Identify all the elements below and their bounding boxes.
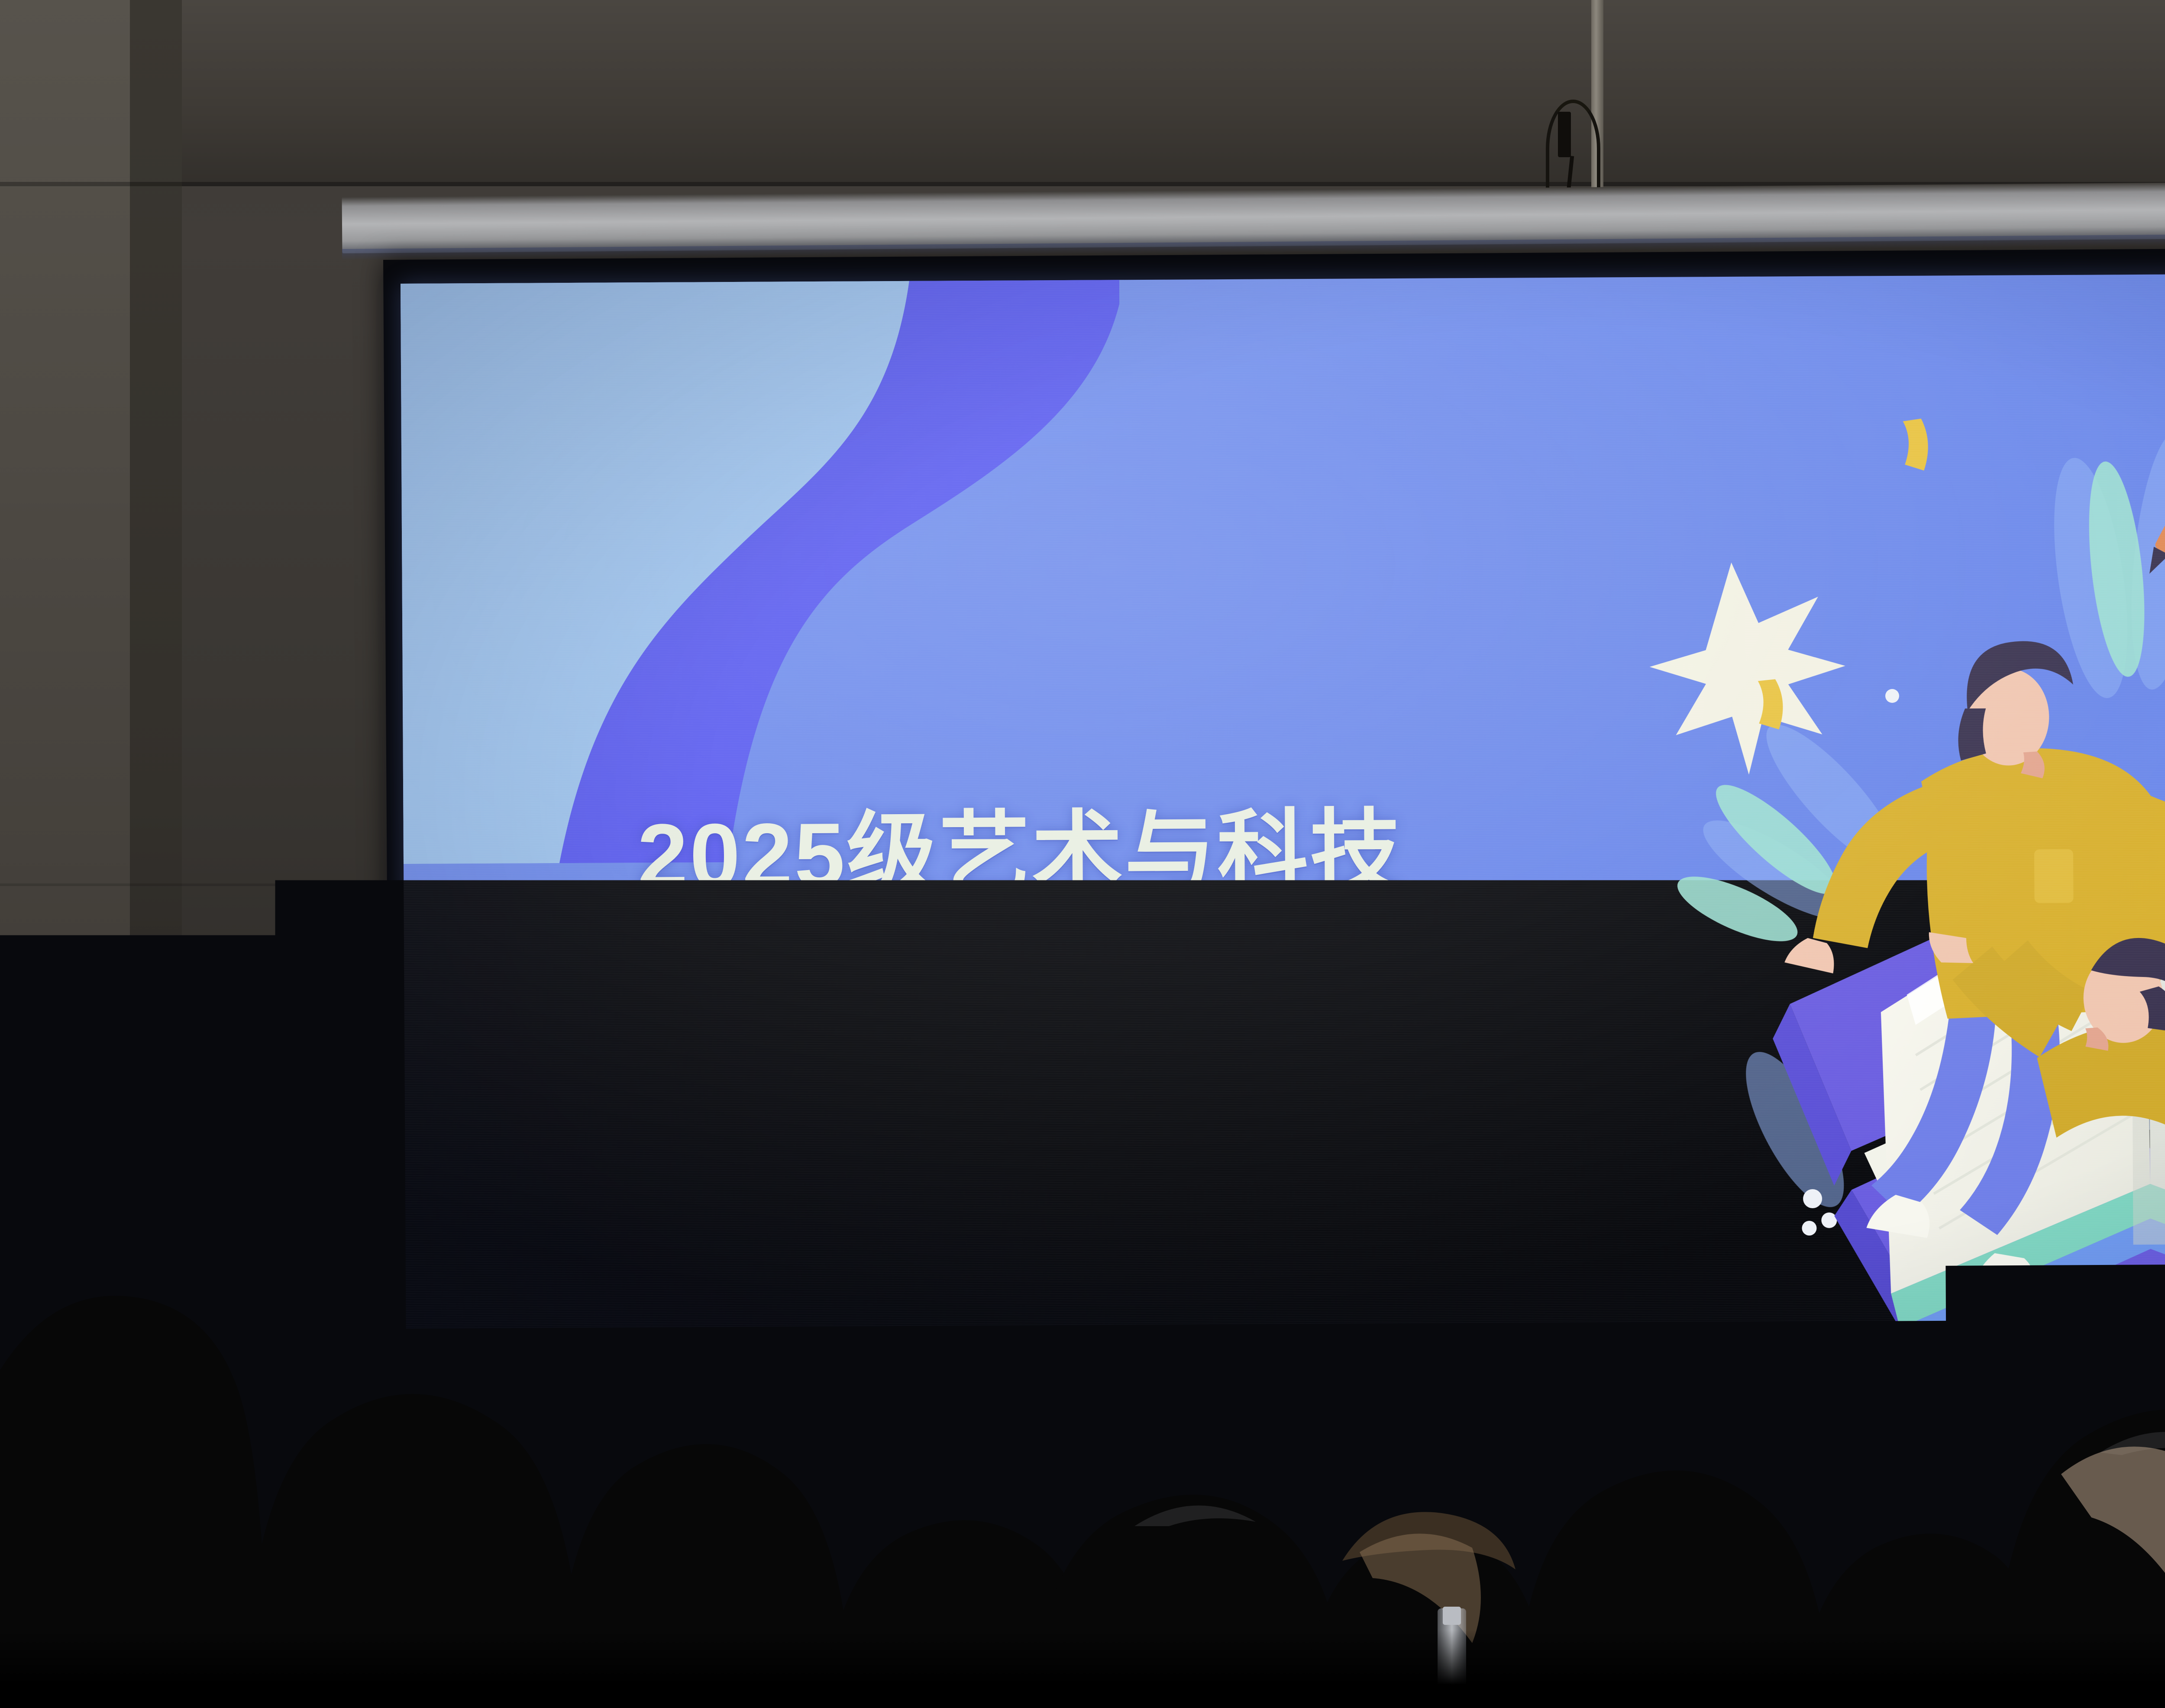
poster-title-text: 校学生行为准则 [0, 1133, 60, 1152]
poster-body-lines [0, 1154, 57, 1325]
cable-adapter-box [1558, 112, 1571, 157]
wall-left-panel-inner [130, 0, 182, 1342]
poster-footer-band [0, 1465, 61, 1479]
screenshot-root: 南京艺术学院 校学生行为准则 [0, 0, 2165, 1708]
projected-slide: 2025级艺术与科技 专业学生介绍会 [401, 271, 2165, 1427]
wall-baseboard [0, 1459, 2165, 1465]
water-bottle-cap [1443, 1607, 1461, 1625]
foreground-shadow [0, 1630, 2165, 1708]
wall-upper-band [0, 0, 2165, 186]
wall-notice-poster: 南京艺术学院 校学生行为准则 [0, 1103, 61, 1479]
hanging-cable-loop [1546, 100, 1600, 197]
poster-header-text: 南京艺术学院 [0, 1108, 57, 1120]
slide-illustration [1644, 332, 2165, 1386]
slide-wave-decoration-topleft [401, 271, 1122, 864]
slide-title-line-2: 专业学生介绍会 [638, 914, 1548, 1045]
slide-title: 2025级艺术与科技 专业学生介绍会 [637, 789, 1548, 1045]
camera-status-led [42, 965, 52, 968]
slide-title-line-1: 2025级艺术与科技 [637, 789, 1547, 919]
